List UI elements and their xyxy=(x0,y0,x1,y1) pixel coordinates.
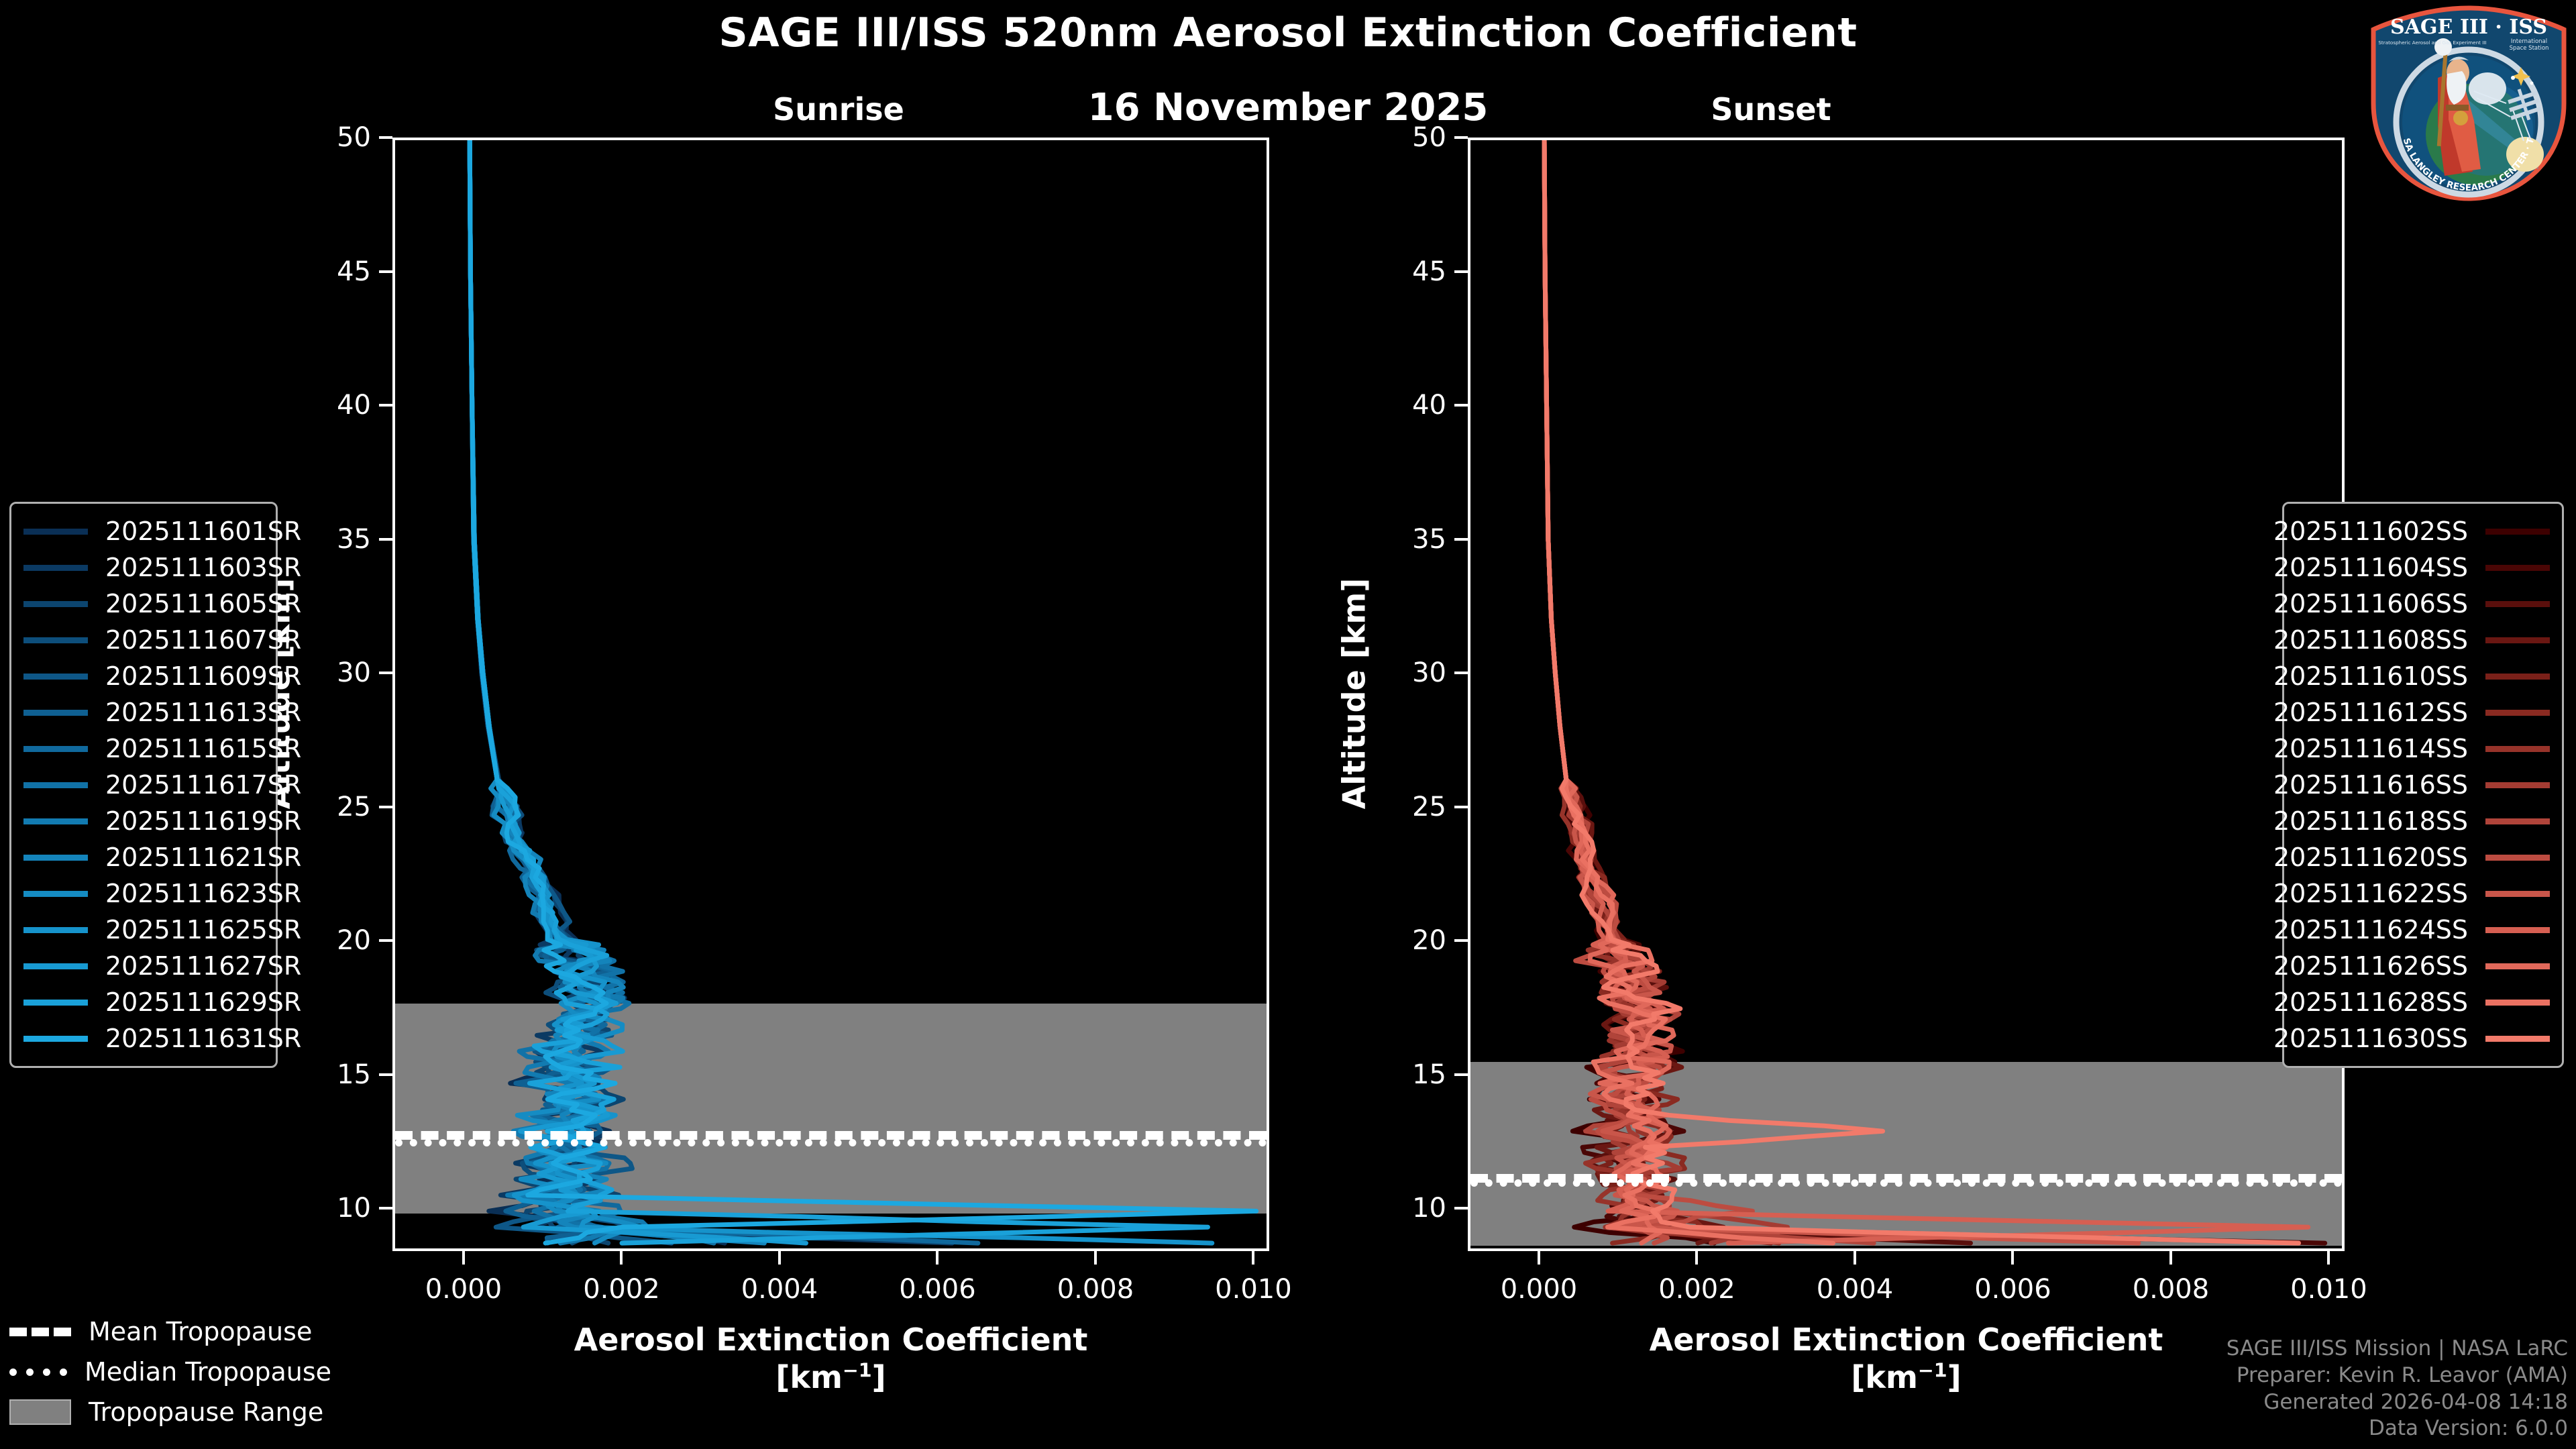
x-axis-tick-label: 0.002 xyxy=(1658,1274,1735,1305)
y-axis-tick-label: 25 xyxy=(337,792,371,822)
legend-label: 2025111616SS xyxy=(2273,770,2468,800)
page-subtitle-date: 16 November 2025 xyxy=(0,86,2576,129)
y-axis-tick-label: 15 xyxy=(1412,1059,1446,1090)
legend-color-swatch xyxy=(2485,1036,2550,1042)
y-axis-tick-label: 25 xyxy=(1412,792,1446,822)
x-axis-tick-mark xyxy=(778,1251,781,1265)
median-tropopause-line-sunset xyxy=(1470,1179,2342,1187)
y-axis-tick-mark xyxy=(379,939,392,942)
legend-item[interactable]: 2025111619SR xyxy=(23,803,264,839)
x-axis-tick-label: 0.006 xyxy=(1974,1274,2051,1305)
y-axis-tick-label: 40 xyxy=(1412,390,1446,421)
profile-line xyxy=(1544,140,2325,1243)
legend-label: 2025111617SR xyxy=(105,770,301,800)
legend-label: 2025111626SS xyxy=(2273,951,2468,981)
legend-color-swatch xyxy=(2485,855,2550,861)
x-axis-tick-mark xyxy=(462,1251,465,1265)
legend-label: 2025111627SR xyxy=(105,951,301,981)
x-axis-tick-mark xyxy=(1538,1251,1540,1265)
y-axis-tick-label: 35 xyxy=(337,524,371,555)
x-axis-tick-mark xyxy=(2327,1251,2330,1265)
legend-label: 2025111607SR xyxy=(105,625,301,655)
x-axis-tick-label: 0.004 xyxy=(1817,1274,1894,1305)
legend-item-tropopause-range: Tropopause Range xyxy=(9,1392,331,1432)
legend-item[interactable]: 2025111610SS xyxy=(2296,658,2550,694)
y-axis-tick-label: 35 xyxy=(1412,524,1446,555)
y-axis-tick-mark xyxy=(379,806,392,808)
x-axis-tick-mark xyxy=(936,1251,938,1265)
legend-item[interactable]: 2025111605SR xyxy=(23,586,264,622)
y-axis-tick-label: 10 xyxy=(337,1193,371,1224)
legend-color-swatch xyxy=(23,637,88,643)
x-axis-tick-mark xyxy=(620,1251,623,1265)
footer-line-version: Data Version: 6.0.0 xyxy=(2226,1415,2568,1442)
panel-label-sunrise: Sunrise xyxy=(698,91,979,127)
profile-line xyxy=(1544,140,1788,1243)
legend-color-swatch xyxy=(23,927,88,933)
x-axis-tick-mark xyxy=(2169,1251,2172,1265)
y-axis-tick-label: 50 xyxy=(1412,122,1446,153)
y-axis-tick-mark xyxy=(379,136,392,139)
legend-label: 2025111609SR xyxy=(105,661,301,691)
legend-color-swatch xyxy=(2485,565,2550,571)
legend-item[interactable]: 2025111612SS xyxy=(2296,694,2550,731)
y-axis-tick-mark xyxy=(379,270,392,273)
legend-item[interactable]: 2025111620SS xyxy=(2296,839,2550,875)
y-axis-tick-mark xyxy=(1454,404,1468,407)
y-axis-tick-mark xyxy=(1454,1073,1468,1076)
legend-color-swatch xyxy=(2485,529,2550,535)
y-axis-tick-mark xyxy=(379,404,392,407)
legend-label: 2025111625SR xyxy=(105,915,301,945)
legend-item[interactable]: 2025111603SR xyxy=(23,549,264,586)
legend-item[interactable]: 2025111601SR xyxy=(23,513,264,549)
legend-color-swatch xyxy=(2485,637,2550,643)
profile-line xyxy=(470,140,764,1243)
legend-label: 2025111630SS xyxy=(2273,1024,2468,1053)
legend-label: 2025111603SR xyxy=(105,553,301,582)
legend-label: 2025111618SS xyxy=(2273,806,2468,836)
profile-line xyxy=(1544,140,1779,1243)
legend-item[interactable]: 2025111613SR xyxy=(23,694,264,731)
legend-label: 2025111619SR xyxy=(105,806,301,836)
legend-item[interactable]: 2025111624SS xyxy=(2296,912,2550,948)
legend-item[interactable]: 2025111618SS xyxy=(2296,803,2550,839)
legend-color-swatch xyxy=(23,818,88,824)
x-axis-tick-label: 0.010 xyxy=(2290,1274,2367,1305)
profile-line xyxy=(1544,140,1874,1243)
y-axis-tick-label: 45 xyxy=(1412,256,1446,287)
median-tropopause-line-sunrise xyxy=(395,1139,1267,1146)
legend-color-swatch xyxy=(23,746,88,752)
legend-label: 2025111601SR xyxy=(105,517,301,546)
legend-item[interactable]: 2025111631SR xyxy=(23,1020,264,1057)
legend-label: 2025111615SR xyxy=(105,734,301,763)
legend-label: 2025111605SR xyxy=(105,589,301,619)
legend-item[interactable]: 2025111604SS xyxy=(2296,549,2550,586)
y-axis-tick-label: 10 xyxy=(1412,1193,1446,1224)
legend-color-swatch xyxy=(23,891,88,897)
legend-color-swatch xyxy=(23,601,88,607)
sage3-iss-mission-patch: SAGE III · ISS Stratospheric Aerosol and… xyxy=(2368,3,2569,204)
legend-item[interactable]: 2025111609SR xyxy=(23,658,264,694)
logo-sub-left: Stratospheric Aerosol and Gas Experiment… xyxy=(2378,40,2486,46)
y-axis-title-sunset: Altitude [km] xyxy=(1336,256,1372,1132)
legend-color-swatch xyxy=(23,674,88,680)
y-axis-tick-mark xyxy=(1454,672,1468,674)
legend-item[interactable]: 2025111607SR xyxy=(23,622,264,658)
legend-label: 2025111622SS xyxy=(2273,879,2468,908)
chart-panel-sunrise: 101520253035404550 0.0000.0020.0040.0060… xyxy=(392,138,1269,1251)
x-axis-tick-label: 0.000 xyxy=(1501,1274,1578,1305)
x-axis-tick-label: 0.002 xyxy=(583,1274,660,1305)
legend-item[interactable]: 2025111630SS xyxy=(2296,1020,2550,1057)
legend-item[interactable]: 2025111616SS xyxy=(2296,767,2550,803)
profile-curves-sunrise xyxy=(395,140,1267,1248)
legend-label: Tropopause Range xyxy=(89,1397,323,1427)
legend-label: Mean Tropopause xyxy=(89,1317,312,1346)
filled-box-icon xyxy=(9,1399,71,1425)
y-axis-tick-label: 40 xyxy=(337,390,371,421)
legend-color-swatch xyxy=(23,1036,88,1042)
legend-item[interactable]: 2025111629SR xyxy=(23,984,264,1020)
legend-label: 2025111629SR xyxy=(105,987,301,1017)
legend-item[interactable]: 2025111617SR xyxy=(23,767,264,803)
legend-tropopause: Mean Tropopause Median Tropopause Tropop… xyxy=(9,1311,331,1432)
legend-color-swatch xyxy=(23,855,88,861)
profile-curves-sunset xyxy=(1470,140,2342,1248)
legend-sunrise-events[interactable]: 2025111601SR2025111603SR2025111605SR2025… xyxy=(9,502,278,1068)
profile-line xyxy=(1544,140,1833,1243)
y-axis-tick-mark xyxy=(1454,538,1468,541)
profile-line xyxy=(470,140,1256,1243)
legend-item[interactable]: 2025111602SS xyxy=(2296,513,2550,549)
legend-item[interactable]: 2025111614SS xyxy=(2296,731,2550,767)
page-title: SAGE III/ISS 520nm Aerosol Extinction Co… xyxy=(0,9,2576,56)
legend-item[interactable]: 2025111621SR xyxy=(23,839,264,875)
legend-color-swatch xyxy=(2485,963,2550,969)
x-axis-tick-label: 0.008 xyxy=(1057,1274,1134,1305)
y-axis-tick-label: 50 xyxy=(337,122,371,153)
legend-item[interactable]: 2025111606SS xyxy=(2296,586,2550,622)
legend-color-swatch xyxy=(2485,1000,2550,1006)
x-axis-tick-mark xyxy=(1252,1251,1254,1265)
y-axis-tick-mark xyxy=(1454,1207,1468,1210)
x-axis-tick-mark xyxy=(2011,1251,2014,1265)
panel-label-sunset: Sunset xyxy=(1630,91,1912,127)
y-axis-tick-mark xyxy=(1454,270,1468,273)
legend-color-swatch xyxy=(23,782,88,788)
legend-color-swatch xyxy=(23,565,88,571)
legend-color-swatch xyxy=(2485,601,2550,607)
legend-color-swatch xyxy=(2485,674,2550,680)
legend-color-swatch xyxy=(2485,710,2550,716)
y-axis-tick-mark xyxy=(379,1073,392,1076)
footer-credits: SAGE III/ISS Mission | NASA LaRC Prepare… xyxy=(2226,1336,2568,1442)
legend-label: 2025111612SS xyxy=(2273,698,2468,727)
x-axis-tick-label: 0.000 xyxy=(425,1274,502,1305)
legend-color-swatch xyxy=(23,963,88,969)
footer-line-mission: SAGE III/ISS Mission | NASA LaRC xyxy=(2226,1336,2568,1362)
legend-item[interactable]: 2025111608SS xyxy=(2296,622,2550,658)
legend-label: 2025111606SS xyxy=(2273,589,2468,619)
y-axis-tick-mark xyxy=(1454,939,1468,942)
legend-item[interactable]: 2025111622SS xyxy=(2296,875,2550,912)
dashed-line-icon xyxy=(9,1328,71,1336)
legend-item-median-tropopause: Median Tropopause xyxy=(9,1352,331,1392)
legend-label: 2025111610SS xyxy=(2273,661,2468,691)
legend-label: 2025111613SR xyxy=(105,698,301,727)
logo-sub-right-2: Space Station xyxy=(2510,45,2549,52)
legend-label: 2025111620SS xyxy=(2273,843,2468,872)
legend-color-swatch xyxy=(2485,891,2550,897)
x-axis-title-sunrise: Aerosol Extinction Coefficient [km−1] xyxy=(392,1321,1269,1396)
y-axis-tick-label: 30 xyxy=(337,657,371,688)
legend-color-swatch xyxy=(2485,927,2550,933)
legend-label: 2025111623SR xyxy=(105,879,301,908)
legend-label: 2025111628SS xyxy=(2273,987,2468,1017)
y-axis-tick-mark xyxy=(379,1207,392,1210)
legend-item[interactable]: 2025111628SS xyxy=(2296,984,2550,1020)
y-axis-tick-mark xyxy=(379,538,392,541)
y-axis-tick-mark xyxy=(379,672,392,674)
y-axis-tick-label: 30 xyxy=(1412,657,1446,688)
legend-sunset-events[interactable]: 2025111602SS2025111604SS2025111606SS2025… xyxy=(2282,502,2564,1068)
legend-item[interactable]: 2025111626SS xyxy=(2296,948,2550,984)
x-axis-tick-mark xyxy=(1094,1251,1097,1265)
x-axis-tick-label: 0.004 xyxy=(741,1274,818,1305)
y-axis-tick-label: 15 xyxy=(337,1059,371,1090)
x-axis-tick-mark xyxy=(1854,1251,1856,1265)
plot-frame-sunset xyxy=(1468,138,2345,1251)
legend-label: 2025111608SS xyxy=(2273,625,2468,655)
legend-color-swatch xyxy=(2485,818,2550,824)
logo-top-text: SAGE III · ISS xyxy=(2390,15,2547,39)
y-axis-tick-label: 20 xyxy=(337,925,371,956)
legend-label: 2025111621SR xyxy=(105,843,301,872)
legend-label: 2025111624SS xyxy=(2273,915,2468,945)
legend-item[interactable]: 2025111615SR xyxy=(23,731,264,767)
logo-sub-right-1: International xyxy=(2511,38,2547,45)
chart-panel-sunset: 101520253035404550 0.0000.0020.0040.0060… xyxy=(1468,138,2345,1251)
legend-color-swatch xyxy=(23,529,88,535)
plot-frame-sunrise xyxy=(392,138,1269,1251)
legend-label: 2025111604SS xyxy=(2273,553,2468,582)
legend-item[interactable]: 2025111627SR xyxy=(23,948,264,984)
x-axis-tick-label: 0.006 xyxy=(899,1274,976,1305)
legend-item[interactable]: 2025111623SR xyxy=(23,875,264,912)
legend-label: 2025111614SS xyxy=(2273,734,2468,763)
x-axis-tick-mark xyxy=(1695,1251,1698,1265)
legend-item-mean-tropopause: Mean Tropopause xyxy=(9,1311,331,1352)
legend-color-swatch xyxy=(2485,782,2550,788)
footer-line-generated: Generated 2026-04-08 14:18 xyxy=(2226,1389,2568,1416)
y-axis-tick-label: 45 xyxy=(337,256,371,287)
y-axis-tick-mark xyxy=(1454,806,1468,808)
x-axis-title-sunset: Aerosol Extinction Coefficient [km−1] xyxy=(1468,1321,2345,1396)
x-axis-tick-label: 0.010 xyxy=(1215,1274,1292,1305)
footer-line-preparer: Preparer: Kevin R. Leavor (AMA) xyxy=(2226,1362,2568,1389)
x-axis-tick-label: 0.008 xyxy=(2133,1274,2210,1305)
y-axis-tick-label: 20 xyxy=(1412,925,1446,956)
legend-label: 2025111602SS xyxy=(2273,517,2468,546)
legend-item[interactable]: 2025111625SR xyxy=(23,912,264,948)
y-axis-tick-mark xyxy=(1454,136,1468,139)
legend-label: 2025111631SR xyxy=(105,1024,301,1053)
legend-color-swatch xyxy=(23,710,88,716)
legend-color-swatch xyxy=(2485,746,2550,752)
legend-color-swatch xyxy=(23,1000,88,1006)
legend-label: Median Tropopause xyxy=(85,1357,331,1387)
dotted-line-icon xyxy=(9,1368,67,1376)
